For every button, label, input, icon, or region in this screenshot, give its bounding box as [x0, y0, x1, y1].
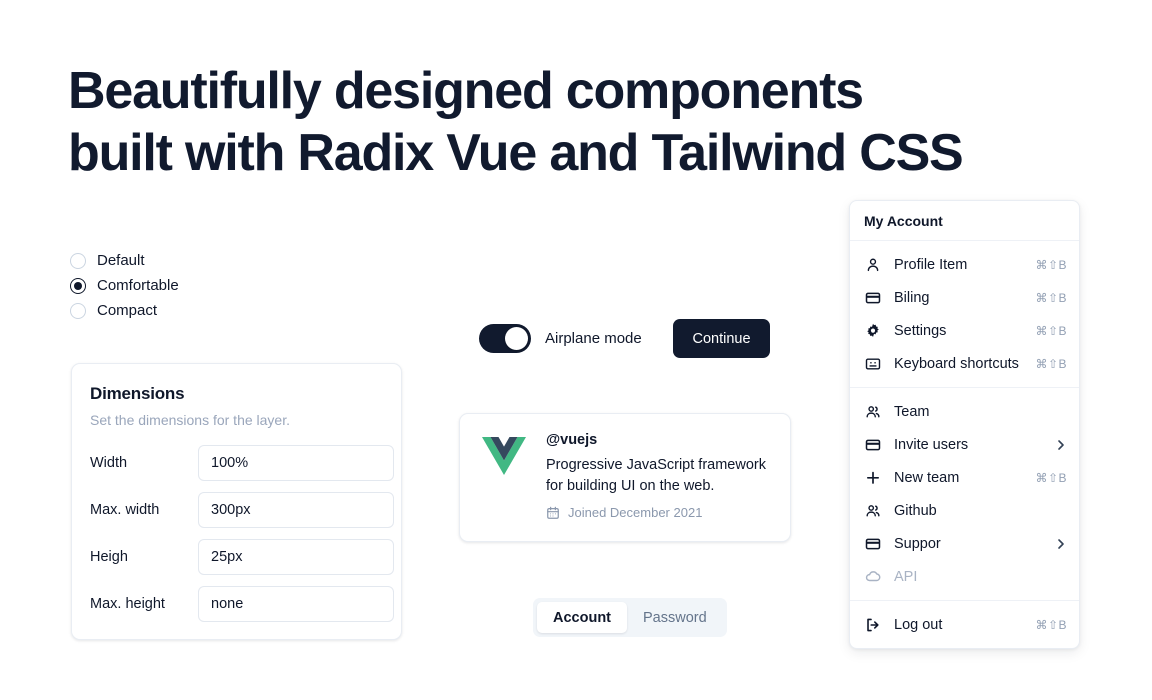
menu-item-invite-users[interactable]: Invite users — [850, 428, 1079, 461]
radio-icon-selected[interactable] — [70, 278, 86, 294]
page-title: Beautifully designed components built wi… — [68, 60, 1028, 184]
dimensions-subtitle: Set the dimensions for the layer. — [90, 412, 381, 428]
max-width-input[interactable] — [198, 492, 394, 528]
keyboard-icon — [864, 355, 881, 372]
menu-item-label: Team — [894, 404, 1067, 420]
credit-card-icon — [864, 289, 881, 306]
tabs: Account Password — [533, 598, 727, 637]
menu-item-label: Settings — [894, 323, 1035, 339]
menu-item-team[interactable]: Team — [850, 395, 1079, 428]
page-title-line-2: built with Radix Vue and Tailwind CSS — [68, 122, 1028, 184]
height-input[interactable] — [198, 539, 394, 575]
hero-heading: Beautifully designed components built wi… — [68, 60, 1028, 184]
menu-item-label: Biling — [894, 290, 1035, 306]
field-label-max-width: Max. width — [90, 502, 198, 518]
tab-password[interactable]: Password — [627, 602, 723, 633]
menu-item-label: Keyboard shortcuts — [894, 356, 1035, 372]
field-label-width: Width — [90, 455, 198, 471]
gear-icon — [864, 322, 881, 339]
radio-option-default[interactable]: Default — [70, 248, 179, 273]
profile-joined: Joined December 2021 — [546, 505, 772, 520]
tab-account[interactable]: Account — [537, 602, 627, 633]
menu-item-profile[interactable]: Profile Item ⌘⇧B — [850, 248, 1079, 281]
users-icon — [864, 502, 881, 519]
logout-icon — [864, 616, 881, 633]
users-icon — [864, 403, 881, 420]
credit-card-icon — [864, 535, 881, 552]
radio-option-comfortable[interactable]: Comfortable — [70, 273, 179, 298]
menu-item-label: Github — [894, 503, 1067, 519]
credit-card-icon — [864, 436, 881, 453]
dimensions-card: Dimensions Set the dimensions for the la… — [71, 363, 402, 640]
menu-item-label: Profile Item — [894, 257, 1035, 273]
field-label-height: Heigh — [90, 549, 198, 565]
radio-icon[interactable] — [70, 253, 86, 269]
menu-item-settings[interactable]: Settings ⌘⇧B — [850, 314, 1079, 347]
menu-item-shortcut: ⌘⇧B — [1035, 471, 1067, 485]
profile-description: Progressive JavaScript framework for bui… — [546, 455, 772, 497]
menu-item-keyboard-shortcuts[interactable]: Keyboard shortcuts ⌘⇧B — [850, 347, 1079, 380]
max-height-input[interactable] — [198, 586, 394, 622]
vue-logo-icon — [482, 436, 526, 478]
menu-item-billing[interactable]: Biling ⌘⇧B — [850, 281, 1079, 314]
field-row-max-width: Max. width — [90, 492, 381, 528]
page-title-line-1: Beautifully designed components — [68, 60, 1028, 122]
radio-option-compact[interactable]: Compact — [70, 298, 179, 323]
menu-item-shortcut: ⌘⇧B — [1035, 357, 1067, 371]
calendar-icon — [546, 506, 560, 520]
field-row-height: Heigh — [90, 539, 381, 575]
menu-item-github[interactable]: Github — [850, 494, 1079, 527]
menu-item-log-out[interactable]: Log out ⌘⇧B — [850, 608, 1079, 641]
menu-item-new-team[interactable]: New team ⌘⇧B — [850, 461, 1079, 494]
menu-group-session: Log out ⌘⇧B — [850, 601, 1079, 648]
field-label-max-height: Max. height — [90, 596, 198, 612]
cloud-icon — [864, 568, 881, 585]
switch-knob — [505, 327, 528, 350]
airplane-mode-switch[interactable] — [479, 324, 531, 353]
menu-item-shortcut: ⌘⇧B — [1035, 258, 1067, 272]
account-dropdown-menu: My Account Profile Item ⌘⇧B — [849, 200, 1080, 649]
user-icon — [864, 256, 881, 273]
menu-group-team: Team Invite users — [850, 388, 1079, 600]
menu-group-account: Profile Item ⌘⇧B Biling ⌘⇧B — [850, 241, 1079, 387]
page-root: Beautifully designed components built wi… — [0, 0, 1152, 700]
dimensions-title: Dimensions — [90, 384, 381, 404]
menu-item-api: API — [850, 560, 1079, 593]
chevron-right-icon — [1055, 538, 1067, 550]
menu-item-label: New team — [894, 470, 1035, 486]
profile-hover-card: @vuejs Progressive JavaScript framework … — [459, 413, 791, 542]
radio-label: Default — [97, 252, 145, 269]
field-row-max-height: Max. height — [90, 586, 381, 622]
width-input[interactable] — [198, 445, 394, 481]
menu-header: My Account — [850, 201, 1079, 240]
radio-icon[interactable] — [70, 303, 86, 319]
field-row-width: Width — [90, 445, 381, 481]
airplane-mode-switch-wrapper: Airplane mode — [479, 324, 642, 353]
chevron-right-icon — [1055, 439, 1067, 451]
menu-item-shortcut: ⌘⇧B — [1035, 618, 1067, 632]
dimensions-fields: Width Max. width Heigh Max. height — [90, 445, 381, 622]
profile-body: @vuejs Progressive JavaScript framework … — [546, 432, 772, 541]
profile-joined-text: Joined December 2021 — [568, 505, 702, 520]
airplane-mode-label: Airplane mode — [545, 330, 642, 347]
menu-item-shortcut: ⌘⇧B — [1035, 324, 1067, 338]
profile-handle: @vuejs — [546, 432, 772, 448]
menu-item-label: Invite users — [894, 437, 1055, 453]
menu-item-support[interactable]: Suppor — [850, 527, 1079, 560]
radio-label: Compact — [97, 302, 157, 319]
plus-icon — [864, 469, 881, 486]
radio-label: Comfortable — [97, 277, 179, 294]
menu-item-shortcut: ⌘⇧B — [1035, 291, 1067, 305]
menu-item-label: Log out — [894, 617, 1035, 633]
menu-item-label: API — [894, 569, 1067, 585]
radio-group: Default Comfortable Compact — [70, 248, 179, 323]
menu-item-label: Suppor — [894, 536, 1055, 552]
continue-button[interactable]: Continue — [673, 319, 770, 358]
